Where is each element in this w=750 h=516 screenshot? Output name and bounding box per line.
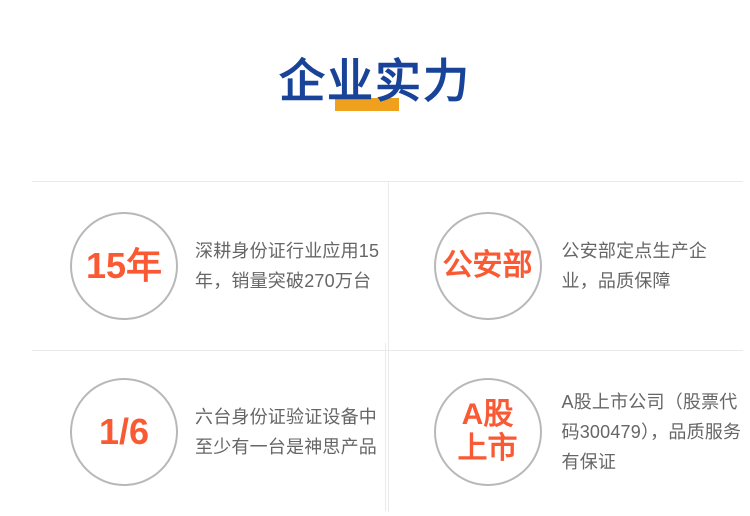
badge-label-3: 1/6 [99, 413, 149, 451]
feature-grid: 15年 深耕身份证行业应用15年，销量突破270万台 公安部 公安部定点生产企业… [32, 181, 743, 511]
badge-circle-4: A股 上市 [434, 378, 542, 486]
page-title: 企业实力 [279, 55, 471, 107]
badge-label-4: A股 上市 [458, 398, 518, 465]
page-title-block: 企业实力 [0, 58, 750, 128]
feature-card-2: 公安部 公安部定点生产企业，品质保障 [388, 182, 744, 350]
page-title-inner: 企业实力 [279, 58, 471, 104]
badge-circle-1: 15年 [70, 212, 178, 320]
badge-circle-3: 1/6 [70, 378, 178, 486]
feature-row-1: 15年 深耕身份证行业应用15年，销量突破270万台 公安部 公安部定点生产企业… [32, 182, 743, 350]
feature-description-2: 公安部定点生产企业，品质保障 [562, 236, 744, 296]
badge-label-2: 公安部 [443, 250, 533, 282]
badge-label-1: 15年 [86, 247, 162, 285]
feature-description-1: 深耕身份证行业应用15年，销量突破270万台 [195, 236, 380, 296]
grid-vertical-divider-extension [385, 343, 386, 511]
feature-row-2: 1/6 六台身份证验证设备中至少有一台是神思产品 A股 上市 A股上市公司（股票… [32, 350, 743, 512]
feature-card-1: 15年 深耕身份证行业应用15年，销量突破270万台 [32, 182, 388, 350]
badge-circle-2: 公安部 [434, 212, 542, 320]
feature-description-4: A股上市公司（股票代码300479），品质服务有保证 [562, 387, 744, 477]
feature-card-4: A股 上市 A股上市公司（股票代码300479），品质服务有保证 [388, 351, 744, 512]
feature-description-3: 六台身份证验证设备中至少有一台是神思产品 [195, 402, 380, 462]
feature-card-3: 1/6 六台身份证验证设备中至少有一台是神思产品 [32, 351, 388, 512]
